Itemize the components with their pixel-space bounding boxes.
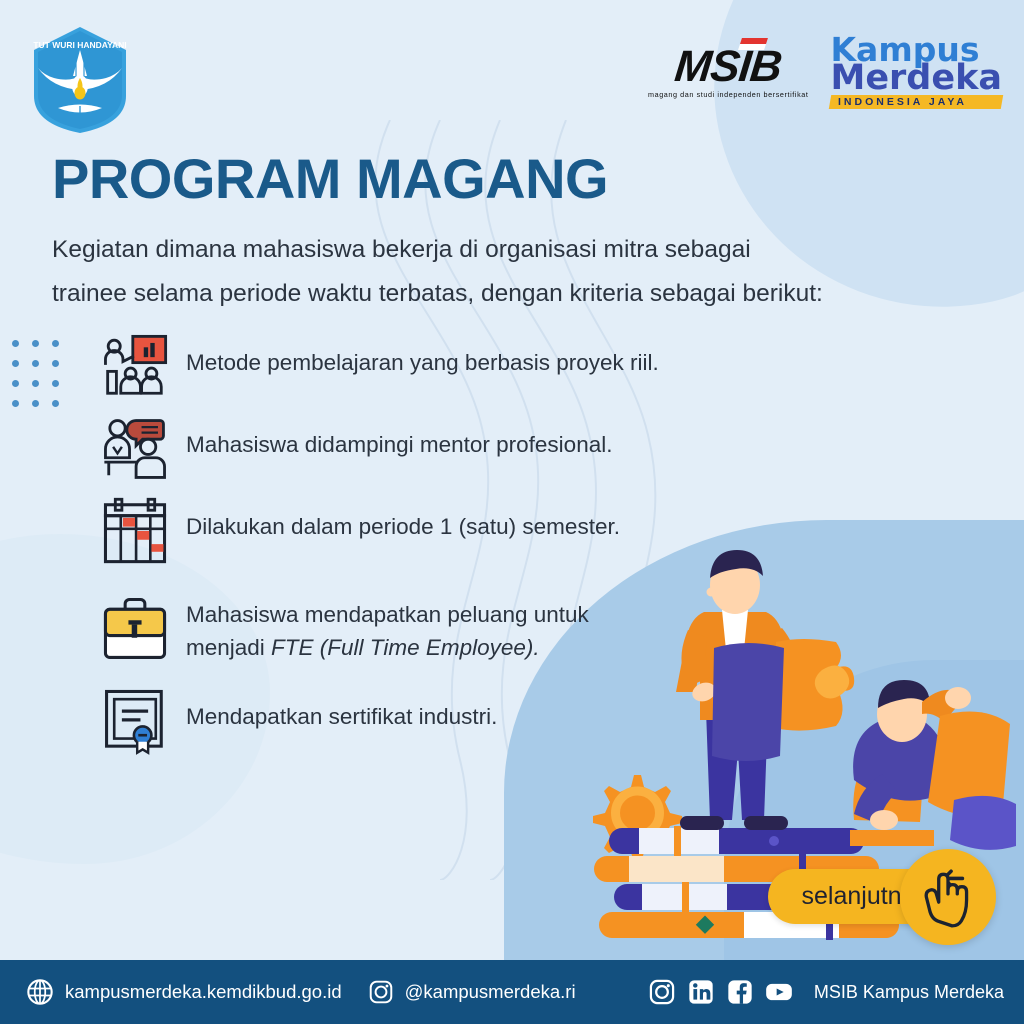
list-item-label: Metode pembelajaran yang berbasis proyek… (170, 332, 659, 379)
calendar-schedule-icon (100, 496, 170, 566)
kemdikbud-motto: TUT WURI HANDAYANI (33, 40, 126, 50)
list-item: Mahasiswa didampingi mentor profesional. (100, 414, 800, 484)
youtube-icon[interactable] (765, 978, 793, 1006)
next-button[interactable]: selanjutnya (768, 869, 990, 924)
list-item-label: Mendapatkan sertifikat industri. (170, 686, 497, 733)
kampus-merdeka-logo: Kampus Merdeka INDONESIA JAYA (830, 36, 1002, 109)
dot-grid-decoration (12, 340, 72, 420)
msib-tagline: magang dan studi independen bersertifika… (648, 90, 808, 99)
list-item: Metode pembelajaran yang berbasis proyek… (100, 332, 800, 402)
subtitle-line-1: Kegiatan dimana mahasiswa bekerja di org… (52, 228, 932, 272)
footer-website-label: kampusmerdeka.kemdikbud.go.id (65, 981, 342, 1003)
swipe-hand-icon (915, 864, 981, 930)
list-item-label-line1: Mahasiswa mendapatkan peluang untuk (186, 598, 589, 631)
briefcase-icon (100, 594, 170, 664)
certificate-icon (100, 686, 170, 756)
label-italic: FTE (Full Time Employee). (271, 635, 540, 660)
list-item-label: Dilakukan dalam periode 1 (satu) semeste… (170, 496, 620, 543)
page-title: PROGRAM MAGANG (52, 146, 608, 211)
instagram-icon[interactable] (648, 978, 676, 1006)
list-item-label-line2: menjadi FTE (Full Time Employee). (186, 631, 589, 664)
footer-website[interactable]: kampusmerdeka.kemdikbud.go.id (26, 978, 342, 1006)
kampus-merdeka-line2: Merdeka (830, 64, 1002, 93)
list-item-label: Mahasiswa mendapatkan peluang untuk menj… (170, 594, 589, 664)
page-subtitle: Kegiatan dimana mahasiswa bekerja di org… (52, 228, 932, 316)
label-plain: menjadi (186, 635, 271, 660)
footer-instagram[interactable]: @kampusmerdeka.ri (368, 979, 576, 1005)
globe-icon (26, 978, 54, 1006)
mentoring-icon (100, 414, 170, 484)
kampus-merdeka-band-text: INDONESIA JAYA (838, 96, 994, 108)
footer-social-group: MSIB Kampus Merdeka (648, 978, 1004, 1006)
presentation-training-icon (100, 332, 170, 402)
linkedin-icon[interactable] (687, 978, 715, 1006)
swipe-hand-button[interactable] (900, 849, 996, 945)
footer-instagram-label: @kampusmerdeka.ri (405, 981, 576, 1003)
person-kneeling (850, 680, 1016, 850)
facebook-icon[interactable] (726, 978, 754, 1006)
kemdikbud-logo: TUT WURI HANDAYANI (26, 24, 134, 136)
header-logos: MSIB magang dan studi independen bersert… (648, 36, 1002, 109)
footer-social-label: MSIB Kampus Merdeka (814, 982, 1004, 1003)
subtitle-line-2: trainee selama periode waktu terbatas, d… (52, 272, 932, 316)
msib-wordmark: MSIB (673, 46, 783, 88)
poster-canvas: TUT WURI HANDAYANI MSIB magang dan studi… (0, 0, 1024, 1024)
puzzle-pieces (712, 639, 854, 761)
instagram-icon (368, 979, 394, 1005)
kampus-merdeka-band: INDONESIA JAYA (829, 95, 1003, 109)
msib-logo: MSIB magang dan studi independen bersert… (648, 36, 808, 99)
footer-bar: kampusmerdeka.kemdikbud.go.id @kampusmer… (0, 960, 1024, 1024)
list-item-label: Mahasiswa didampingi mentor profesional. (170, 414, 612, 461)
